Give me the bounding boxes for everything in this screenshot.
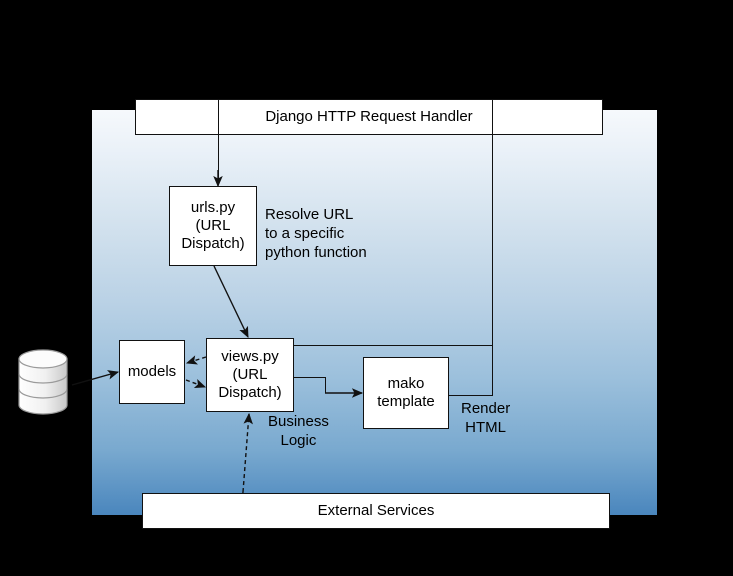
header-divider-left: [218, 99, 219, 135]
annotation-render-html: Render HTML: [461, 399, 510, 437]
node-models[interactable]: models: [119, 340, 185, 404]
header-label: Django HTTP Request Handler: [265, 108, 472, 126]
connector-render-vertical: [492, 135, 493, 395]
models-label: models: [128, 363, 176, 381]
views-line-1: views.py: [221, 348, 279, 366]
connector-render-to-mako: [448, 395, 493, 396]
gradient-panel: [92, 110, 657, 515]
urls-line-3: Dispatch): [181, 235, 244, 253]
mako-line-2: template: [377, 393, 435, 411]
annotation-resolve-url: Resolve URL to a specific python functio…: [265, 205, 367, 263]
connector-views-elbow-vertical: [325, 377, 326, 393]
views-line-3: Dispatch): [218, 384, 281, 402]
connector-views-to-render-vertical: [294, 345, 493, 346]
node-django-http-request-handler[interactable]: Django HTTP Request Handler: [135, 99, 603, 135]
connector-header-to-urls-stem: [218, 135, 219, 185]
diagram-canvas: Django HTTP Request Handler urls.py (URL…: [0, 0, 733, 576]
node-views-py[interactable]: views.py (URL Dispatch): [206, 338, 294, 412]
database-cylinder-icon: [17, 349, 69, 415]
header-divider-right: [492, 99, 493, 135]
node-mako-template[interactable]: mako template: [363, 357, 449, 429]
annotation-business-logic: Business Logic: [268, 412, 329, 450]
node-external-services[interactable]: External Services: [142, 493, 610, 529]
urls-line-2: (URL: [195, 217, 230, 235]
mako-line-1: mako: [388, 375, 425, 393]
connector-views-elbow-horizontal: [294, 377, 325, 378]
external-services-label: External Services: [318, 502, 435, 520]
urls-line-1: urls.py: [191, 199, 235, 217]
views-line-2: (URL: [232, 366, 267, 384]
node-urls-py[interactable]: urls.py (URL Dispatch): [169, 186, 257, 266]
